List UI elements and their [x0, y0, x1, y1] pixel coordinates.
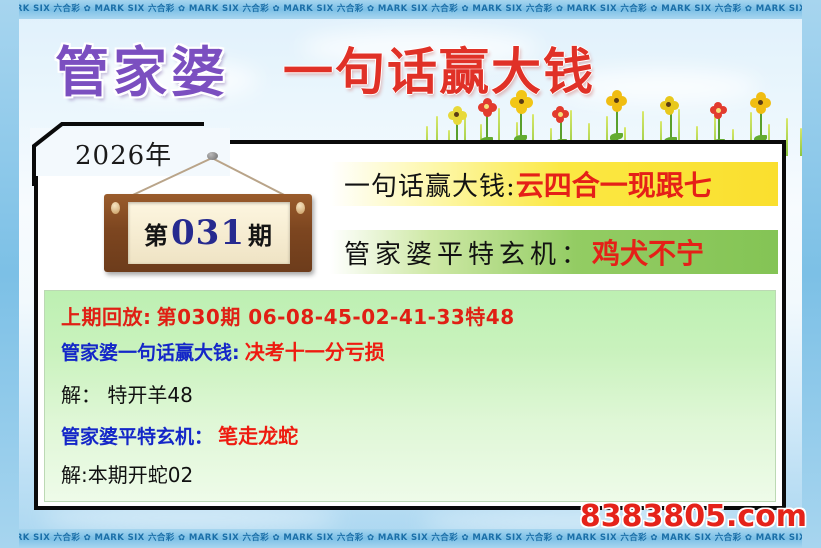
- border-right: MARK SIX 六合彩 ✿ MARK SIX 六合彩 ✿ MARK SIX 六…: [802, 0, 821, 548]
- border-top: MARK SIX 六合彩 ✿ MARK SIX 六合彩 ✿ MARK SIX 六…: [0, 0, 821, 19]
- site-watermark: 8383805.com: [580, 499, 807, 534]
- prev-phrase-value: 决考十一分亏损: [245, 340, 385, 364]
- banner-yellow-value: 云四合一现跟七: [516, 164, 712, 204]
- last-draw-label: 上期回放:: [61, 305, 152, 329]
- history-content-box: 上期回放: 第030期 06-08-45-02-41-33特48 管家婆一句话赢…: [44, 290, 776, 502]
- border-text: MARK SIX 六合彩 ✿ MARK SIX 六合彩 ✿ MARK SIX 六…: [0, 533, 821, 543]
- sign-nail: [207, 152, 218, 160]
- issue-number: 031: [171, 213, 245, 253]
- row-prev-tips: 管家婆平特玄机： 笔走龙蛇: [61, 420, 775, 449]
- last-draw-value: 第030期 06-08-45-02-41-33特48: [157, 305, 515, 329]
- banner-green-label: 管家婆平特玄机：: [344, 234, 592, 271]
- border-text: MARK SIX 六合彩 ✿ MARK SIX 六合彩 ✿ MARK SIX 六…: [0, 4, 821, 14]
- prev-phrase-label: 管家婆一句话赢大钱:: [61, 342, 240, 364]
- sign-board: 第 031 期: [104, 194, 312, 272]
- row-explain-1: 解： 特开羊48: [61, 379, 775, 408]
- hanging-sign: 第 031 期: [92, 152, 327, 277]
- border-left: MARK SIX 六合彩 ✿ MARK SIX 六合彩 ✿ MARK SIX 六…: [0, 0, 19, 548]
- brand-logo: 管家婆: [55, 28, 229, 107]
- issue-number-group: 第 031 期: [104, 194, 312, 272]
- prev-tips-label: 管家婆平特玄机：: [61, 426, 213, 448]
- banner-green-value: 鸡犬不宁: [592, 232, 704, 272]
- prev-tips-value: 笔走龙蛇: [218, 424, 298, 448]
- row-last-draw: 上期回放: 第030期 06-08-45-02-41-33特48: [61, 301, 775, 330]
- banner-yellow: 一句话赢大钱: 云四合一现跟七: [330, 162, 778, 206]
- banner-yellow-label: 一句话赢大钱:: [344, 166, 516, 203]
- issue-prefix: 第: [144, 216, 168, 251]
- banner-green: 管家婆平特玄机： 鸡犬不宁: [330, 230, 778, 274]
- row-explain-2: 解:本期开蛇02: [61, 459, 775, 488]
- explain-2-text: 解:本期开蛇02: [61, 463, 193, 487]
- poster-root: MARK SIX 六合彩 ✿ MARK SIX 六合彩 ✿ MARK SIX 六…: [0, 0, 821, 548]
- issue-suffix: 期: [248, 216, 272, 251]
- explain-1-text: 解： 特开羊48: [61, 383, 193, 407]
- row-prev-phrase: 管家婆一句话赢大钱: 决考十一分亏损: [61, 336, 775, 365]
